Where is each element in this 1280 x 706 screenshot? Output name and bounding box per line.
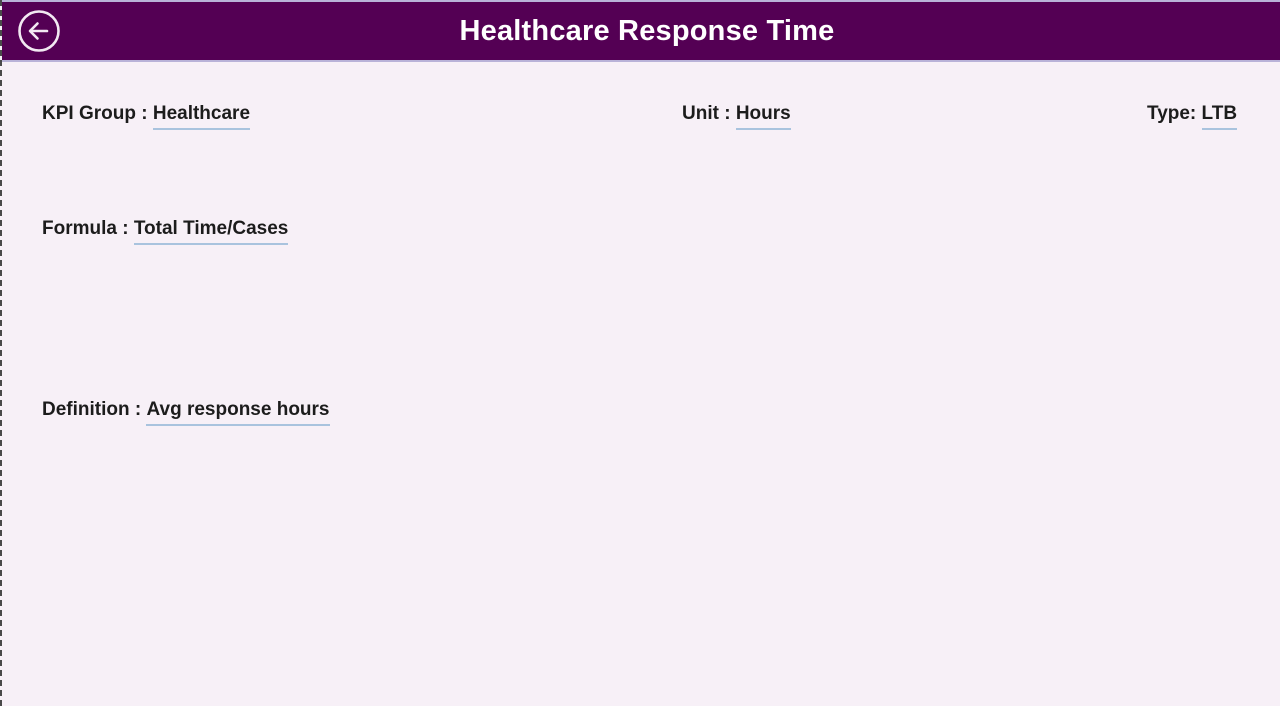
type-label: Type: (1147, 103, 1196, 124)
kpi-group-label: KPI Group : (42, 103, 148, 124)
definition-label: Definition : (42, 399, 141, 420)
circle-arrow-left-glyph (17, 9, 61, 53)
formula-label: Formula : (42, 218, 129, 239)
type-value[interactable]: LTB (1202, 104, 1238, 130)
kpi-group-value[interactable]: Healthcare (153, 104, 250, 130)
field-kpi-group: KPI Group : Healthcare (42, 104, 250, 130)
definition-value[interactable]: Avg response hours (146, 400, 329, 426)
circle-arrow-left-icon[interactable] (16, 8, 62, 54)
app-header: Healthcare Response Time (2, 0, 1280, 62)
kpi-detail-body: KPI Group : Healthcare Unit : Hours Type… (2, 62, 1280, 706)
unit-label: Unit : (682, 103, 731, 124)
page-title: Healthcare Response Time (460, 17, 835, 46)
kpi-detail-screen: Healthcare Response Time KPI Group : Hea… (0, 0, 1280, 706)
field-type: Type: LTB (1147, 104, 1237, 130)
formula-value[interactable]: Total Time/Cases (134, 219, 289, 245)
field-unit: Unit : Hours (682, 104, 791, 130)
field-formula: Formula : Total Time/Cases (42, 219, 288, 245)
unit-value[interactable]: Hours (736, 104, 791, 130)
field-definition: Definition : Avg response hours (42, 400, 330, 426)
